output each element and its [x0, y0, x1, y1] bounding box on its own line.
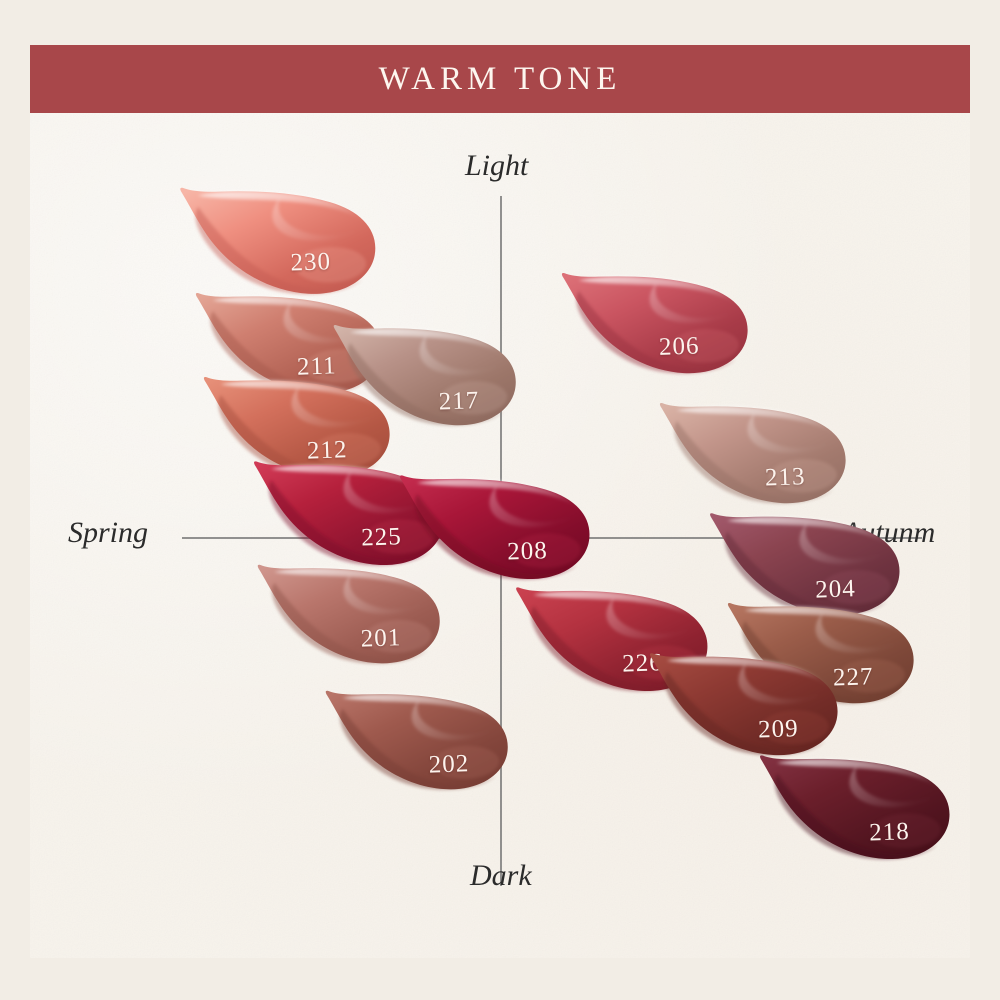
axis-label-dark: Dark — [470, 859, 532, 893]
lipstick-swatch-218[interactable]: 218 — [750, 739, 958, 868]
page-title: WARM TONE — [379, 61, 622, 98]
swatch-shape-201 — [248, 550, 448, 673]
swatch-shape-202 — [316, 676, 516, 799]
swatch-shape-206 — [552, 258, 756, 383]
lipstick-swatch-201[interactable]: 201 — [248, 550, 448, 673]
lipstick-swatch-202[interactable]: 202 — [316, 676, 516, 799]
header-band: WARM TONE — [30, 45, 970, 113]
warm-tone-shade-chart: WARM TONE Light Dark Spring Autunm 23021 — [0, 0, 1000, 1000]
swatch-shape-213 — [650, 388, 854, 513]
axis-label-light: Light — [465, 149, 528, 183]
axis-label-spring: Spring — [68, 516, 148, 550]
swatch-shape-218 — [750, 739, 958, 868]
lipstick-swatch-213[interactable]: 213 — [650, 388, 854, 513]
lipstick-swatch-206[interactable]: 206 — [552, 258, 756, 383]
chart-canvas: Light Dark Spring Autunm 230211217212225… — [30, 113, 970, 958]
